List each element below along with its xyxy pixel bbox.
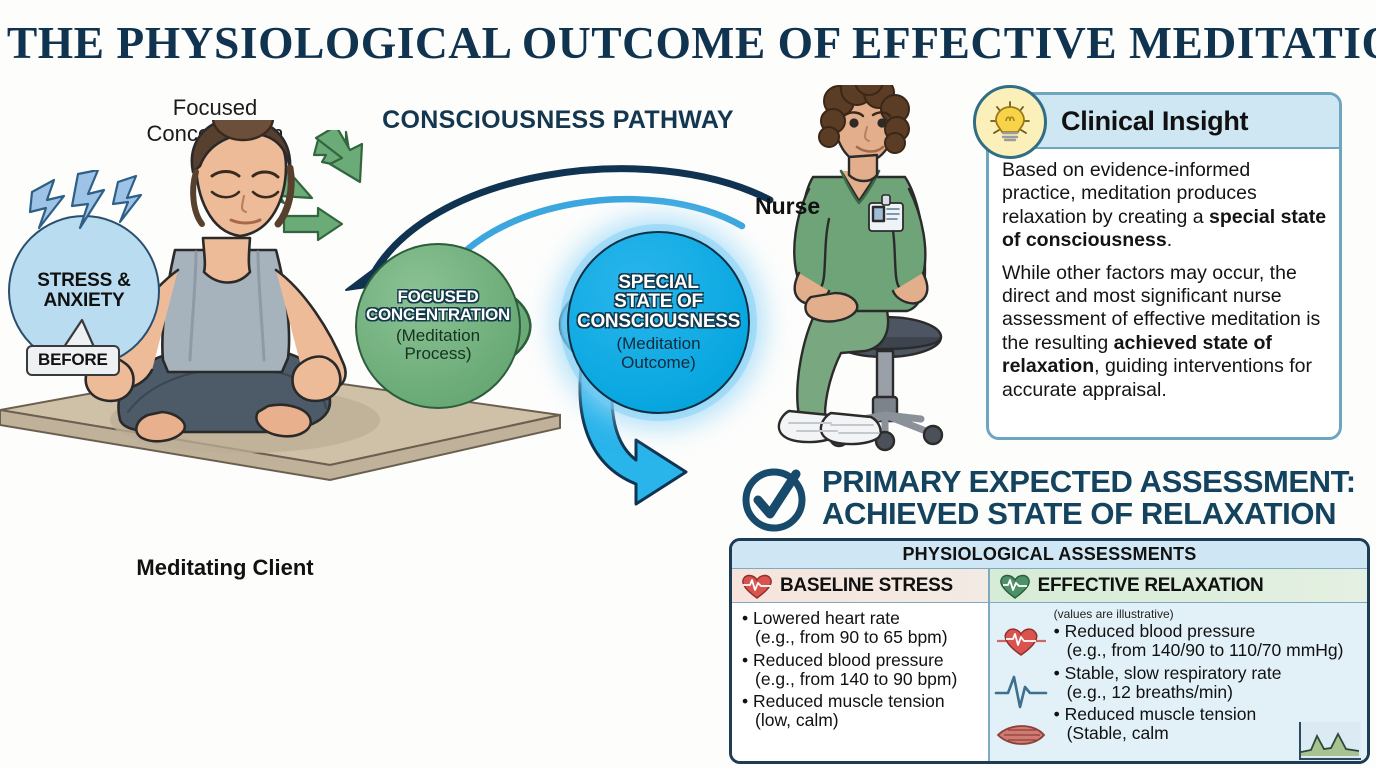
item-line2: (e.g., from 140/90 to 110/70 mmHg) bbox=[1054, 641, 1361, 660]
stress-anxiety-label: STRESS & ANXIETY bbox=[37, 271, 130, 311]
area-chart-icon bbox=[1299, 722, 1361, 760]
baseline-stress-header-text: BASELINE STRESS bbox=[780, 575, 953, 597]
effective-relaxation-header-text: EFFECTIVE RELAXATION bbox=[1038, 575, 1264, 597]
clinical-insight-body: Based on evidence-informed practice, med… bbox=[989, 149, 1339, 419]
stress-lightning-bolts-icon bbox=[14, 170, 164, 260]
illustrative-values-note: (values are illustrative) bbox=[1054, 607, 1361, 621]
lightbulb-icon bbox=[973, 85, 1047, 159]
node-special-title-line2: STATE OF bbox=[577, 292, 740, 311]
item-line2: (e.g., 12 breaths/min) bbox=[1054, 683, 1361, 702]
node-special-title-line1: SPECIAL bbox=[577, 273, 740, 292]
effective-relaxation-header: EFFECTIVE RELAXATION bbox=[990, 569, 1367, 603]
page-title: THE PHYSIOLOGICAL OUTCOME OF EFFECTIVE M… bbox=[7, 16, 1369, 69]
focused-caption-line1: Focused bbox=[125, 95, 305, 121]
node-special-subtitle: (Meditation Outcome) bbox=[616, 335, 700, 372]
red-heart-ecg-icon bbox=[997, 629, 1046, 655]
node-focused-sub-line2: Process) bbox=[396, 345, 480, 363]
list-item: • Stable, slow respiratory rate (e.g., 1… bbox=[1054, 664, 1361, 703]
baseline-stress-items: • Lowered heart rate (e.g., from 90 to 6… bbox=[732, 603, 988, 764]
item-line2: (low, calm) bbox=[742, 711, 982, 730]
clinical-insight-card: Clinical Insight Based on evidence-infor… bbox=[986, 92, 1342, 440]
node-special-title-line3: CONSCIOUSNESS bbox=[577, 312, 740, 331]
primary-assessment-banner: PRIMARY EXPECTED ASSESSMENT: ACHIEVED ST… bbox=[738, 458, 1374, 538]
item-line2: (e.g., from 90 to 65 bpm) bbox=[742, 628, 982, 647]
insight-paragraph-1: Based on evidence-informed practice, med… bbox=[1002, 159, 1327, 253]
primary-assessment-text: PRIMARY EXPECTED ASSESSMENT: ACHIEVED ST… bbox=[822, 466, 1356, 529]
node-special-sub-line2: Outcome) bbox=[616, 354, 700, 372]
green-heart-ecg-icon bbox=[998, 573, 1032, 599]
node-focused-title-line1: FOCUSED bbox=[366, 288, 510, 305]
node-focused-title: FOCUSED CONCENTRATION bbox=[366, 288, 510, 323]
item-line1: • Stable, slow respiratory rate bbox=[1054, 664, 1361, 683]
effective-relaxation-items: (values are illustrative) • Reduced bloo… bbox=[990, 603, 1367, 764]
effective-relaxation-column: EFFECTIVE RELAXATION bbox=[990, 569, 1367, 764]
red-heart-ecg-icon bbox=[740, 573, 774, 599]
list-item: • Reduced blood pressure (e.g., from 140… bbox=[742, 651, 982, 690]
item-line1: • Reduced blood pressure bbox=[742, 651, 982, 670]
item-line1: • Reduced blood pressure bbox=[1054, 622, 1361, 641]
ecg-waveform-icon bbox=[996, 677, 1046, 707]
node-focused-title-line2: CONCENTRATION bbox=[366, 306, 510, 323]
node-special-sub-line1: (Meditation bbox=[616, 335, 700, 353]
check-circle-icon bbox=[738, 462, 810, 534]
node-special-title: SPECIAL STATE OF CONSCIOUSNESS bbox=[577, 273, 740, 331]
physiological-assessments-table: PHYSIOLOGICAL ASSESSMENTS BASELINE STRES… bbox=[729, 538, 1370, 764]
node-focused-sub-line1: (Meditation bbox=[396, 327, 480, 345]
primary-line2: ACHIEVED STATE OF RELAXATION bbox=[822, 498, 1356, 530]
nurse-illustration bbox=[745, 85, 980, 455]
insight-p1-b: . bbox=[1167, 229, 1172, 251]
node-focused-concentration: FOCUSED CONCENTRATION (Meditation Proces… bbox=[355, 243, 521, 409]
before-badge: BEFORE bbox=[26, 345, 120, 376]
insight-paragraph-2: While other factors may occur, the direc… bbox=[1002, 262, 1327, 402]
list-item: • Lowered heart rate (e.g., from 90 to 6… bbox=[742, 609, 982, 648]
clinical-insight-title: Clinical Insight bbox=[1061, 106, 1248, 137]
table-title: PHYSIOLOGICAL ASSESSMENTS bbox=[732, 541, 1367, 569]
stress-label-line2: ANXIETY bbox=[37, 291, 130, 311]
relaxation-metric-icons bbox=[994, 625, 1048, 755]
nurse-label: Nurse bbox=[755, 193, 820, 220]
muscle-fiber-icon bbox=[998, 726, 1044, 744]
node-focused-subtitle: (Meditation Process) bbox=[396, 327, 480, 364]
item-line2: (e.g., from 140 to 90 bpm) bbox=[742, 670, 982, 689]
list-item: • Reduced muscle tension (low, calm) bbox=[742, 692, 982, 731]
stress-label-line1: STRESS & bbox=[37, 271, 130, 291]
baseline-stress-column: BASELINE STRESS • Lowered heart rate (e.… bbox=[732, 569, 990, 764]
node-special-state: SPECIAL STATE OF CONSCIOUSNESS (Meditati… bbox=[567, 231, 750, 414]
primary-line1: PRIMARY EXPECTED ASSESSMENT: bbox=[822, 466, 1356, 498]
baseline-stress-header: BASELINE STRESS bbox=[732, 569, 988, 603]
item-line1: • Reduced muscle tension bbox=[742, 692, 982, 711]
infographic-canvas: THE PHYSIOLOGICAL OUTCOME OF EFFECTIVE M… bbox=[0, 0, 1376, 768]
list-item: • Reduced blood pressure (e.g., from 140… bbox=[1054, 622, 1361, 661]
item-line1: • Lowered heart rate bbox=[742, 609, 982, 628]
